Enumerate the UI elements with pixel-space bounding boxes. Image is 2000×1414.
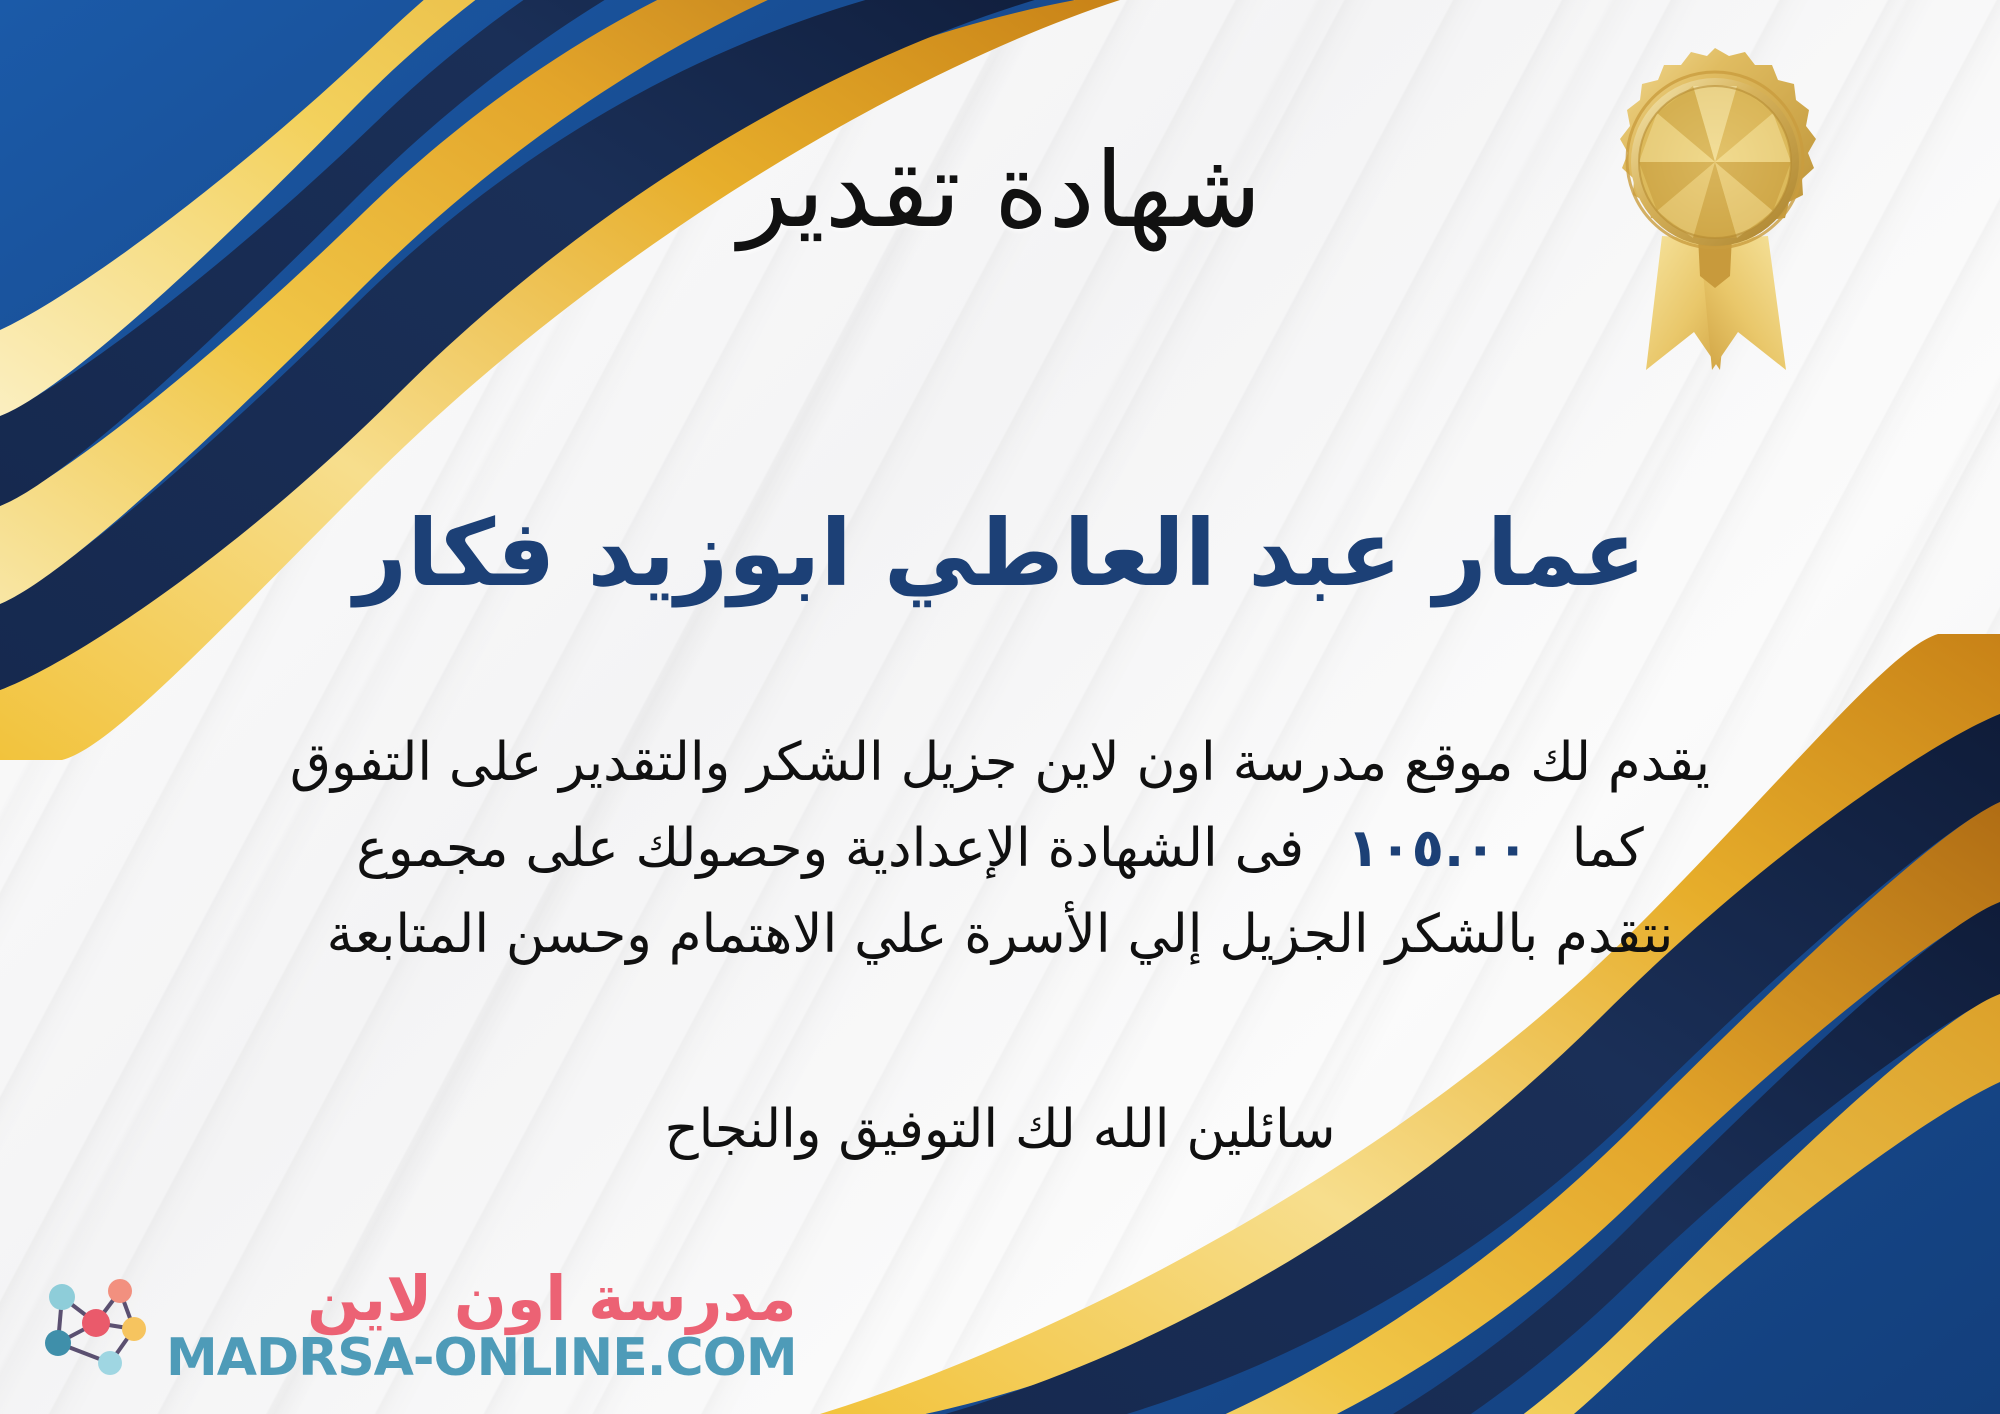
body-line-2: كما ١٠٥.٠٠ فى الشهادة الإعدادية وحصولك ع… [120,806,1880,892]
certificate-body: يقدم لك موقع مدرسة اون لاين جزيل الشكر و… [120,720,1880,978]
body-line-2-suffix: كما [1572,818,1644,879]
closing-wish-line: سائلين الله لك التوفيق والنجاح [0,1090,2000,1170]
recipient-name: عمار عبد العاطي ابوزيد فكار [0,500,2000,609]
brand-text: مدرسة اون لاين MADRSA-ONLINE.COM [166,1266,797,1386]
certificate-content: شهادة تقدير عمار عبد العاطي ابوزيد فكار … [0,0,2000,1414]
body-line-1: يقدم لك موقع مدرسة اون لاين جزيل الشكر و… [120,720,1880,806]
certificate-title: شهادة تقدير [0,132,2000,248]
body-line-3: نتقدم بالشكر الجزيل إلي الأسرة علي الاهت… [120,892,1880,978]
score-value: ١٠٥.٠٠ [1321,818,1555,879]
brand-website: MADRSA-ONLINE.COM [166,1331,797,1386]
brand-arabic-name: مدرسة اون لاين [307,1266,797,1331]
network-nodes-icon [34,1267,152,1385]
certificate-canvas: شهادة تقدير عمار عبد العاطي ابوزيد فكار … [0,0,2000,1414]
brand-logo[interactable]: مدرسة اون لاين MADRSA-ONLINE.COM [34,1266,797,1386]
body-line-2-prefix: فى الشهادة الإعدادية وحصولك على مجموع [356,818,1304,879]
